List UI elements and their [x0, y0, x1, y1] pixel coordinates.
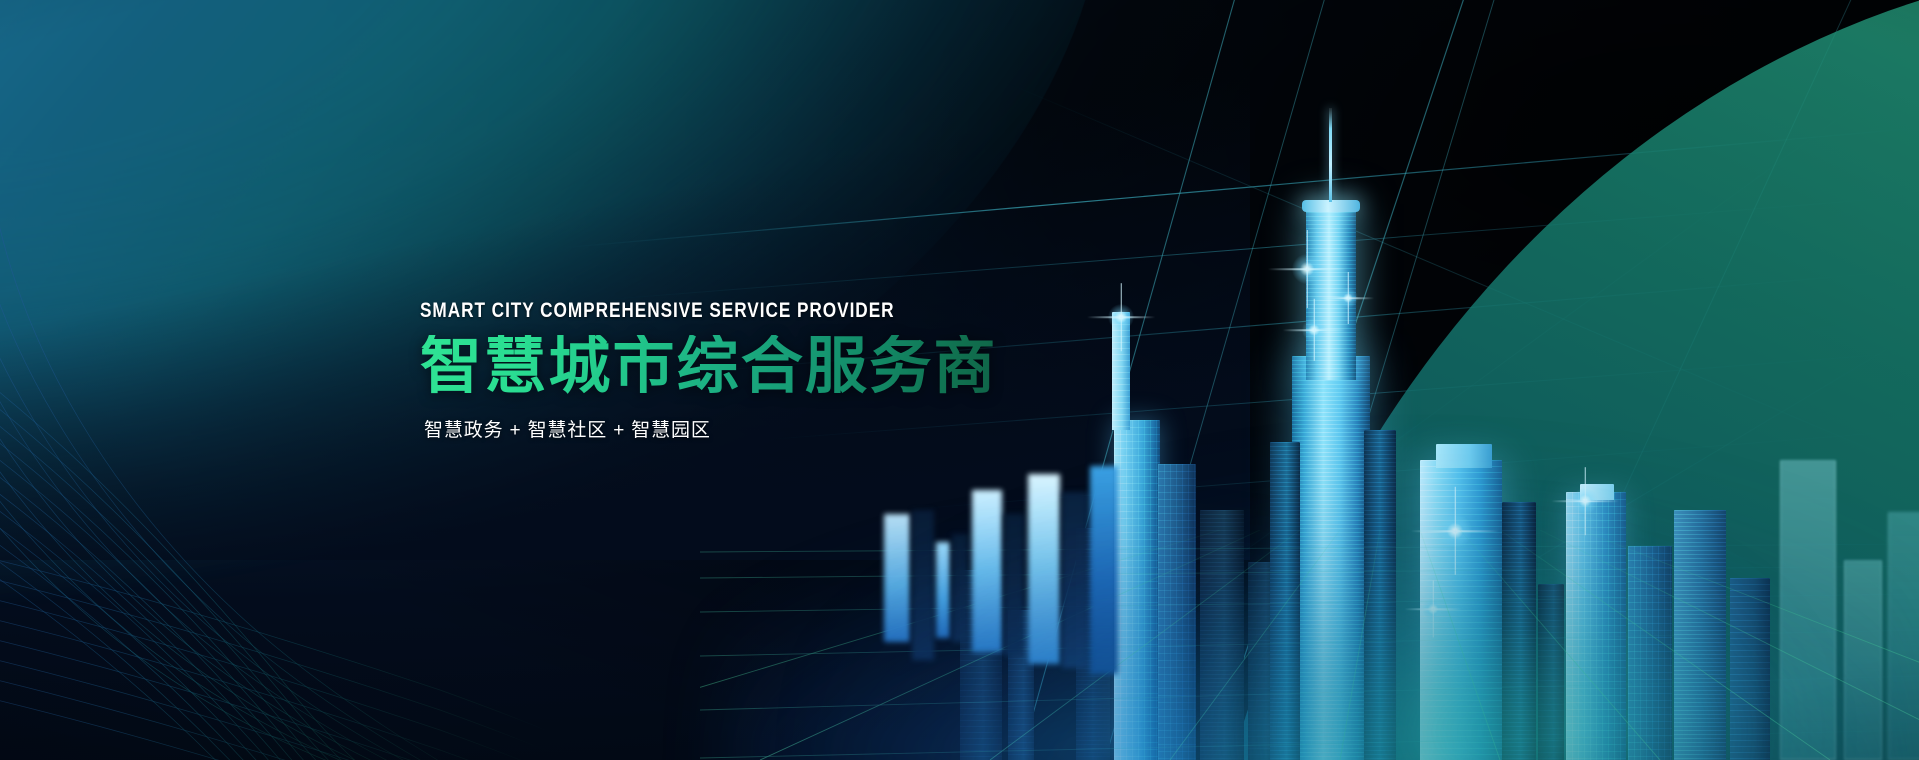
decor-green-soft-glow: [1139, 200, 1919, 760]
hero-eyebrow: SMART CITY COMPREHENSIVE SERVICE PROVIDE…: [420, 300, 895, 321]
smart-city-hero-banner: SMART CITY COMPREHENSIVE SERVICE PROVIDE…: [0, 0, 1919, 760]
hero-subline: 智慧政务 + 智慧社区 + 智慧园区: [424, 415, 999, 442]
hero-headline: 智慧城市综合服务商: [420, 335, 999, 399]
hero-text-block: SMART CITY COMPREHENSIVE SERVICE PROVIDE…: [420, 300, 999, 442]
tower-spire: [1329, 108, 1332, 202]
